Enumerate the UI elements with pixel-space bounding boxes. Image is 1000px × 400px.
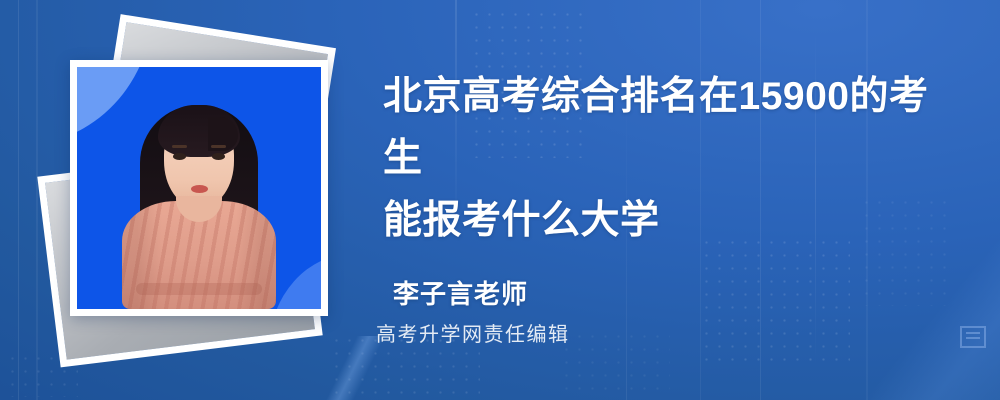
portrait-eyebrow-left bbox=[172, 145, 187, 148]
banner-canvas: 北京高考综合排名在15900的考生 能报考什么大学 李子言老师 高考升学网责任编… bbox=[0, 0, 1000, 400]
instructor-photo-card bbox=[70, 60, 328, 316]
page-title-line-2: 能报考什么大学 bbox=[383, 190, 953, 252]
portrait-eyebrow-right bbox=[211, 145, 226, 148]
author-role: 高考升学网责任编辑 bbox=[376, 318, 570, 347]
portrait-dress-shading bbox=[122, 201, 276, 309]
banner-text-block: 北京高考综合排名在15900的考生 能报考什么大学 李子言老师 高考升学网责任编… bbox=[376, 0, 976, 400]
portrait-lips bbox=[191, 185, 208, 193]
instructor-portrait bbox=[77, 67, 321, 309]
portrait-hair-front bbox=[158, 105, 240, 157]
page-title-line-1: 北京高考综合排名在15900的考生 bbox=[383, 66, 953, 190]
author-name: 李子言老师 bbox=[393, 274, 528, 311]
photo-card-stack bbox=[0, 0, 360, 400]
portrait-eye-right bbox=[212, 153, 225, 160]
portrait-eye-left bbox=[173, 153, 186, 160]
page-title: 北京高考综合排名在15900的考生 能报考什么大学 bbox=[383, 66, 953, 252]
